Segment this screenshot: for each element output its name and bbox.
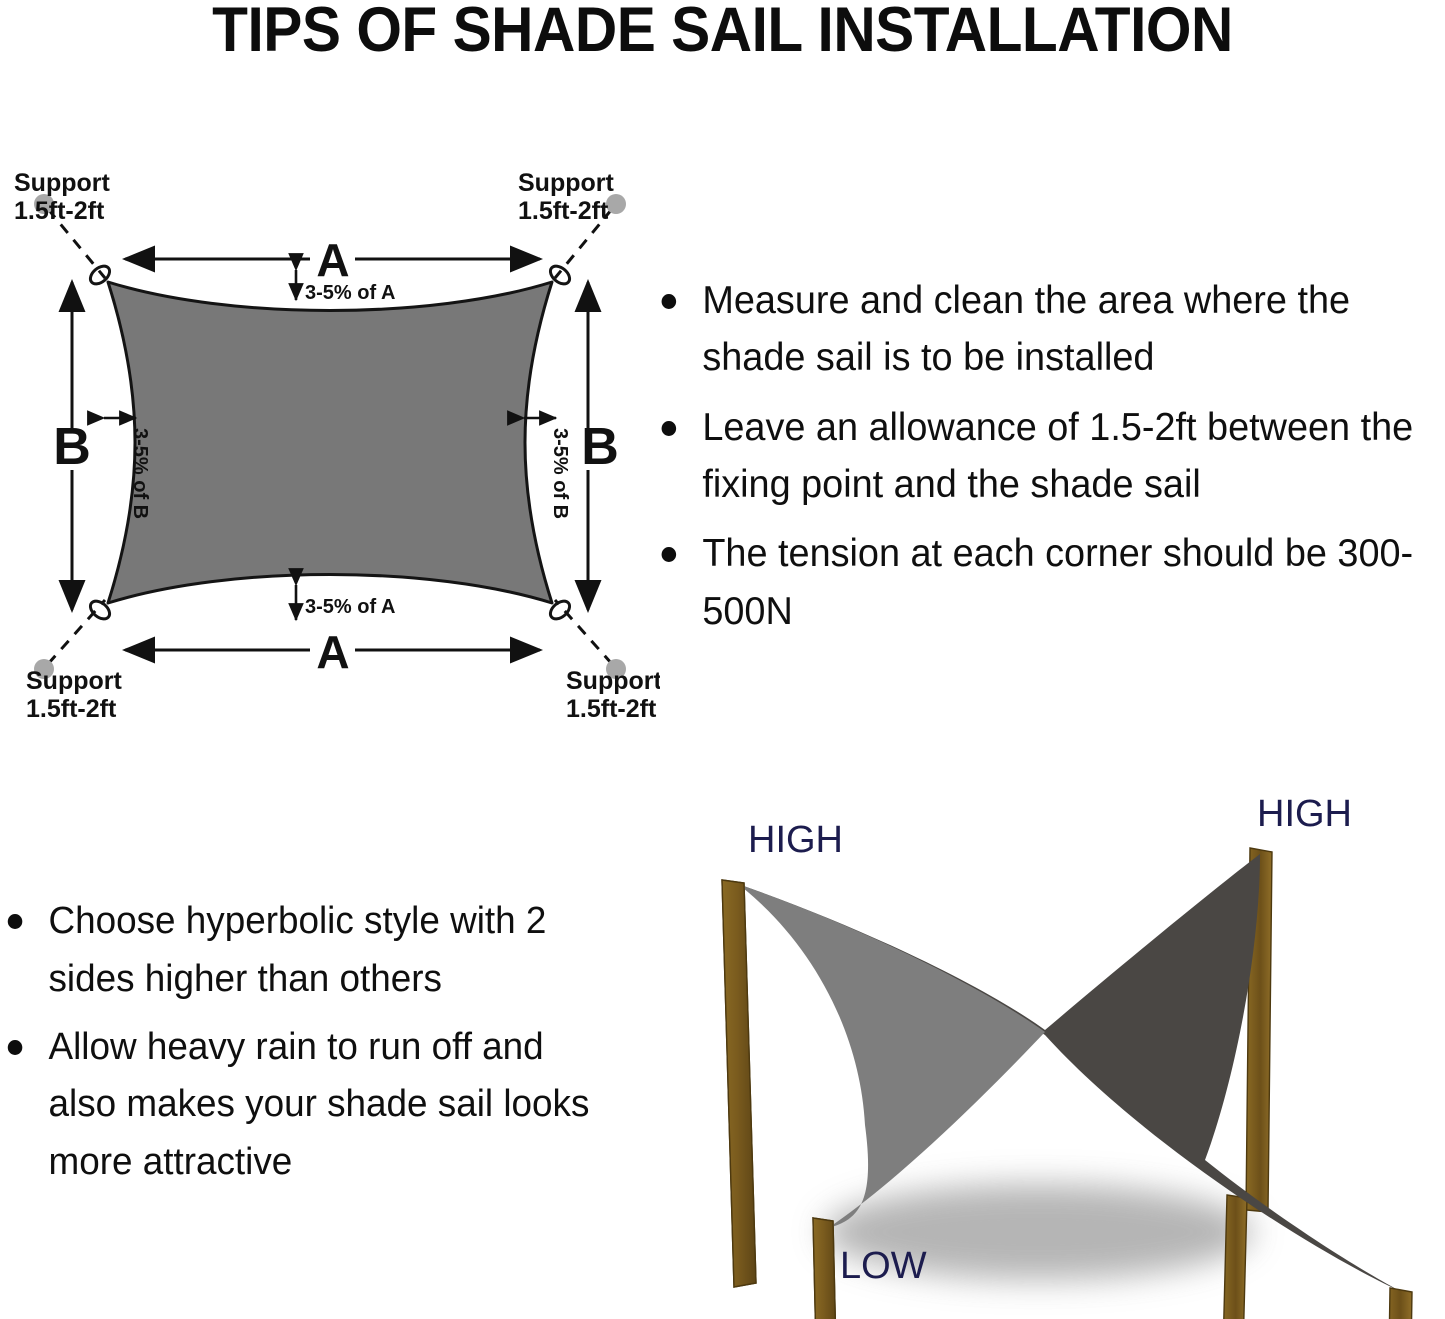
rectangular-sail-diagram: A A B B 3-5% of A 3-5% of A (0, 160, 660, 740)
post-high-left-front (722, 880, 756, 1287)
tip-item: The tension at each corner should be 300… (648, 525, 1424, 640)
hyperbolic-sail-illustration: HIGH HIGH LOW LOW (660, 780, 1445, 1319)
dim-label-a-bottom: A (316, 626, 349, 678)
dim-label-a-top: A (316, 234, 349, 286)
hyperbolic-tips-list: Choose hyperbolic style with 2 sides hig… (0, 893, 630, 1202)
tip-text: Choose hyperbolic style with 2 sides hig… (49, 900, 547, 1000)
label-high-left: HIGH (748, 819, 843, 861)
curve-label-left: 3-5% of B (129, 428, 151, 519)
tip-item: Leave an allowance of 1.5-2ft between th… (648, 399, 1424, 514)
tip-text: Leave an allowance of 1.5-2ft between th… (702, 406, 1413, 506)
curve-label-top: 3-5% of A (305, 282, 395, 304)
tip-item: Allow heavy rain to run off and also mak… (0, 1019, 611, 1192)
sail-panel-light (738, 884, 1045, 1228)
support-label-top-left-line1: Support (14, 169, 110, 197)
support-dot-top-right (606, 194, 626, 214)
support-label-bottom-right-line2: 1.5ft-2ft (566, 695, 657, 723)
support-label-top-right-line2: 1.5ft-2ft (518, 197, 609, 225)
curve-label-bottom: 3-5% of A (305, 596, 395, 618)
support-label-bottom-left-line2: 1.5ft-2ft (26, 695, 117, 723)
bullet-icon (662, 294, 677, 309)
label-high-right: HIGH (1257, 793, 1352, 835)
post-low-right (1386, 1288, 1412, 1319)
tip-text: Allow heavy rain to run off and also mak… (49, 1026, 590, 1184)
page-title: TIPS OF SHADE SAIL INSTALLATION (51, 0, 1395, 66)
label-low-left: LOW (840, 1245, 927, 1287)
tip-item: Measure and clean the area where the sha… (648, 272, 1424, 387)
shade-sail-shape (108, 282, 552, 603)
bullet-icon (8, 914, 23, 929)
curve-label-right: 3-5% of B (549, 428, 571, 519)
installation-tips-list: Measure and clean the area where the sha… (648, 272, 1445, 652)
bullet-icon (662, 547, 677, 562)
dim-label-b-left: B (53, 418, 91, 476)
support-label-top-left-line2: 1.5ft-2ft (14, 197, 105, 225)
bullet-icon (662, 421, 677, 436)
post-low-left-front (813, 1218, 837, 1319)
bullet-icon (8, 1040, 23, 1055)
support-label-top-right-line1: Support (518, 169, 614, 197)
support-label-bottom-right-line1: Support (566, 667, 660, 695)
tip-item: Choose hyperbolic style with 2 sides hig… (0, 893, 611, 1009)
tip-text: The tension at each corner should be 300… (702, 532, 1413, 632)
support-label-bottom-left-line1: Support (26, 667, 122, 695)
dim-label-b-right: B (581, 418, 619, 476)
tip-text: Measure and clean the area where the sha… (702, 279, 1350, 379)
